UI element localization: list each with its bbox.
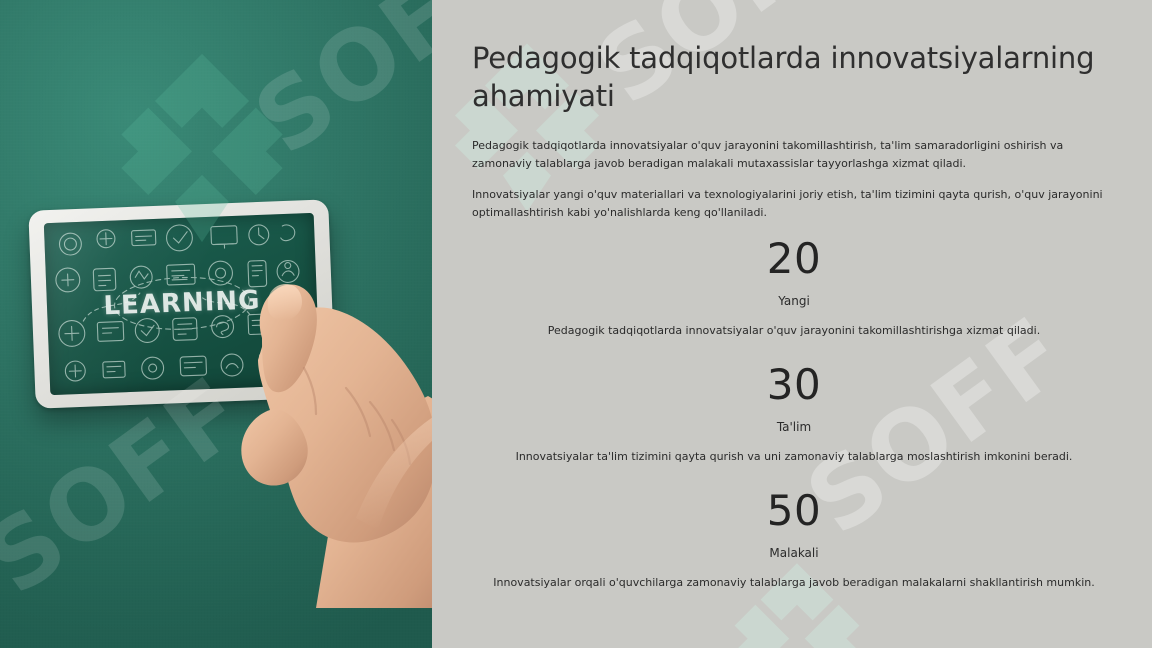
page-title: Pedagogik tadqiqotlarda innovatsiyalarni…	[472, 40, 1112, 115]
stat-description: Innovatsiyalar ta'lim tizimini qayta qur…	[472, 448, 1116, 466]
illustration-panel: LEARNING	[0, 0, 432, 648]
stat-number: 30	[472, 362, 1116, 407]
stat-number: 50	[472, 488, 1116, 533]
intro-paragraph-2: Innovatsiyalar yangi o'quv materiallari …	[472, 186, 1116, 222]
stat-label: Malakali	[472, 544, 1116, 563]
intro-paragraph-1: Pedagogik tadqiqotlarda innovatsiyalar o…	[472, 137, 1116, 173]
stat-block: 20 Yangi Pedagogik tadqiqotlarda innovat…	[472, 236, 1116, 340]
stats-list: 20 Yangi Pedagogik tadqiqotlarda innovat…	[472, 236, 1116, 592]
stat-description: Innovatsiyalar orqali o'quvchilarga zamo…	[472, 574, 1116, 592]
slide-root: LEARNING	[0, 0, 1152, 648]
stat-description: Pedagogik tadqiqotlarda innovatsiyalar o…	[472, 322, 1116, 340]
stat-label: Ta'lim	[472, 418, 1116, 437]
pointing-hand-illustration	[196, 268, 432, 608]
stat-block: 30 Ta'lim Innovatsiyalar ta'lim tizimini…	[472, 362, 1116, 466]
stat-block: 50 Malakali Innovatsiyalar orqali o'quvc…	[472, 488, 1116, 592]
content-panel: SOFF SOFF Pedagogik tadqiqotlarda innova…	[432, 0, 1152, 648]
stat-number: 20	[472, 236, 1116, 281]
stat-label: Yangi	[472, 292, 1116, 311]
